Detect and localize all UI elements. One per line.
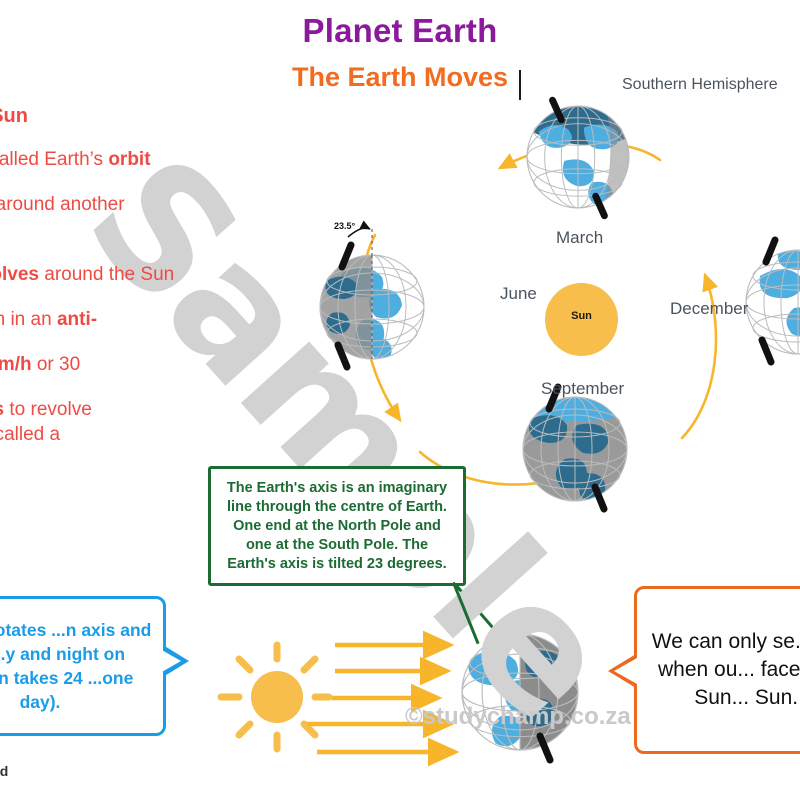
label-southern-hemisphere: Southern Hemisphere — [622, 76, 778, 94]
left-paragraph-6: ...365 days to revolve... - this is call… — [0, 397, 288, 447]
left-paragraph-2: ...e object around another...volution — [0, 192, 288, 242]
left-paragraph-1: ...athway called Earth’s orbit — [0, 147, 288, 172]
left-paragraph-4: ...d the Sun in an anti- — [0, 307, 288, 332]
label-september: September — [541, 379, 624, 399]
page-title: Planet Earth — [0, 12, 800, 50]
orange-daynight-callout: We can only se... day when ou... faces t… — [634, 586, 800, 754]
globe-december — [746, 240, 800, 362]
blue-callout-text: ... also rotates ...n axis and this ...y… — [0, 618, 163, 714]
green-axis-callout: The Earth's axis is an imaginary line th… — [208, 466, 466, 586]
slide-canvas: 23.5° — [0, 0, 800, 800]
left-paragraph-3: ...arth revolves around the Sun — [0, 262, 288, 287]
sun-label: Sun — [545, 310, 618, 322]
orange-callout-text: We can only se... day when ou... faces t… — [637, 628, 800, 712]
globe-march — [527, 100, 629, 216]
globe-september — [523, 387, 627, 509]
left-text-column: ...nd the Sun ...athway called Earth’s o… — [0, 104, 288, 467]
label-march: March — [556, 228, 603, 248]
green-callout-connector — [455, 584, 500, 636]
text-caret — [519, 70, 521, 100]
green-callout-text: The Earth's axis is an imaginary line th… — [211, 479, 463, 574]
blue-callout-beak-inner — [160, 649, 181, 673]
sun-icon — [221, 645, 329, 749]
left-paragraph-5: ...08 000 km/h or 30 — [0, 352, 288, 377]
footer-fragment: ed — [0, 763, 8, 779]
globe-june: 23.5° — [320, 221, 424, 367]
orange-callout-beak-inner — [614, 658, 637, 684]
left-heading: ...nd the Sun — [0, 104, 288, 129]
blue-rotation-callout: ... also rotates ...n axis and this ...y… — [0, 596, 166, 736]
label-june: June — [500, 284, 537, 304]
label-december: December — [670, 299, 748, 319]
tilt-angle-label: 23.5° — [334, 221, 356, 231]
